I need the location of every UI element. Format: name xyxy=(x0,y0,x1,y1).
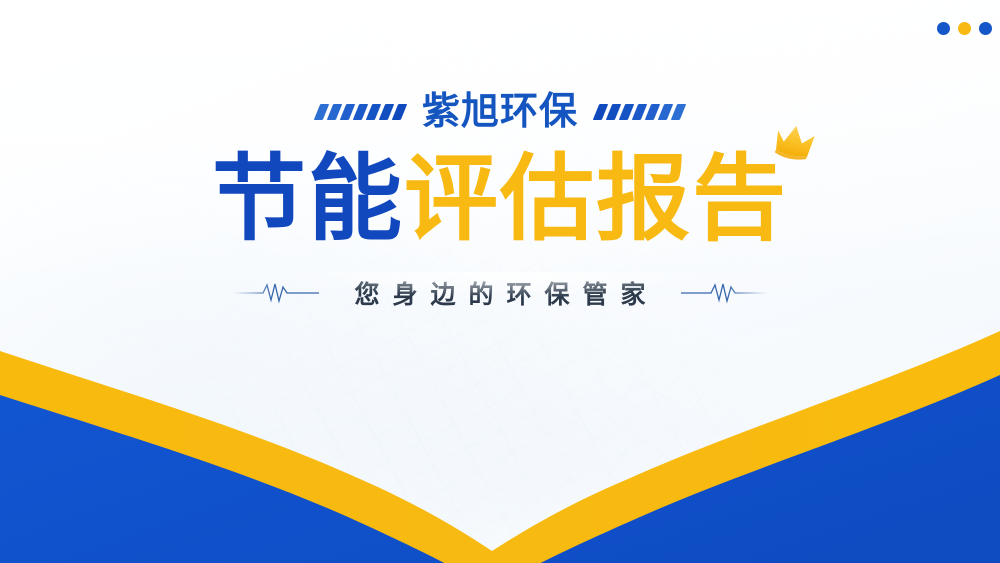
title-segment-blue: 节能 xyxy=(212,150,404,249)
bottom-wave-decoration xyxy=(0,283,1000,563)
subtitle-text: 您身边的环保管家 xyxy=(341,275,658,311)
slanted-dashes-icon-right xyxy=(596,104,683,120)
slanted-dashes-icon-left xyxy=(317,104,404,120)
dot-blue-1 xyxy=(937,22,950,35)
presentation-cover-slide: 紫旭环保 节能 评估报告 xyxy=(0,0,1000,563)
dot-orange xyxy=(958,22,971,35)
brand-name: 紫旭环保 xyxy=(422,93,578,131)
cover-content: 紫旭环保 节能 评估报告 xyxy=(0,88,1000,311)
dot-blue-2 xyxy=(979,22,992,35)
brand-row: 紫旭环保 xyxy=(317,88,683,136)
page-title: 节能 评估报告 xyxy=(212,150,788,249)
heartbeat-line-icon-left xyxy=(233,282,319,304)
corner-dots-group xyxy=(937,22,992,35)
title-segment-orange: 评估报告 xyxy=(404,150,788,249)
main-title-wrap: 节能 评估报告 xyxy=(212,150,788,249)
heartbeat-line-icon-right xyxy=(681,282,767,304)
subtitle-row: 您身边的环保管家 xyxy=(233,275,766,311)
